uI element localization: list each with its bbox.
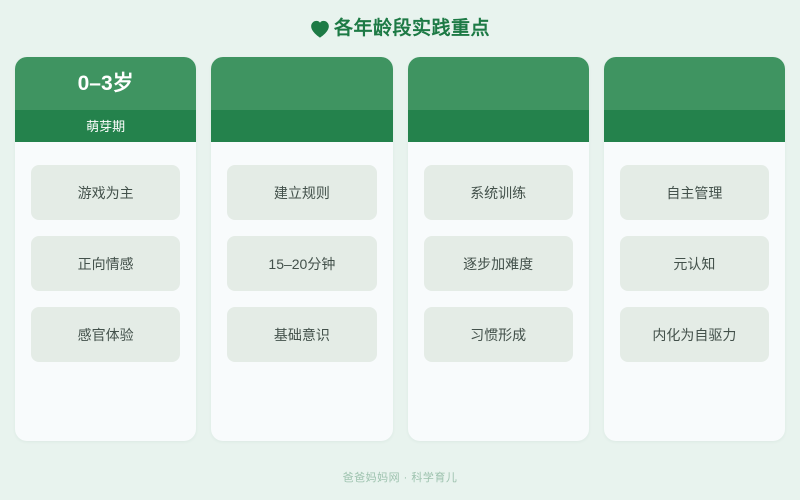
card-subtitle-3 bbox=[408, 110, 589, 142]
card-body-3: 系统训练 逐步加难度 习惯形成 bbox=[408, 142, 589, 441]
age-card-4[interactable]: 自主管理 元认知 内化为自驱力 bbox=[604, 57, 785, 441]
card-header-3 bbox=[408, 57, 589, 110]
list-item[interactable]: 基础意识 bbox=[227, 307, 376, 362]
list-item[interactable]: 习惯形成 bbox=[424, 307, 573, 362]
card-header-4 bbox=[604, 57, 785, 110]
footer-credit: 爸爸妈妈网 · 科学育儿 bbox=[343, 473, 458, 484]
item-label: 内化为自驱力 bbox=[652, 328, 736, 342]
age-card-0-3[interactable]: 0–3岁 萌芽期 游戏为主 正向情感 感官体验 bbox=[15, 57, 196, 441]
card-stage-label: 萌芽期 bbox=[86, 120, 125, 133]
footer: 爸爸妈妈网 · 科学育儿 bbox=[0, 456, 800, 500]
item-label: 逐步加难度 bbox=[463, 257, 533, 271]
list-item[interactable]: 15–20分钟 bbox=[227, 236, 376, 291]
age-card-3[interactable]: 系统训练 逐步加难度 习惯形成 bbox=[408, 57, 589, 441]
item-label: 系统训练 bbox=[470, 186, 526, 200]
item-label: 正向情感 bbox=[78, 257, 134, 271]
card-header-0-3: 0–3岁 bbox=[15, 57, 196, 110]
item-label: 建立规则 bbox=[274, 186, 330, 200]
item-label: 自主管理 bbox=[666, 186, 722, 200]
list-item[interactable]: 建立规则 bbox=[227, 165, 376, 220]
card-age-label: 0–3岁 bbox=[78, 73, 134, 94]
item-label: 15–20分钟 bbox=[268, 257, 335, 271]
list-item[interactable]: 内化为自驱力 bbox=[620, 307, 769, 362]
list-item[interactable]: 逐步加难度 bbox=[424, 236, 573, 291]
heart-icon bbox=[310, 20, 330, 38]
card-subtitle-2 bbox=[211, 110, 392, 142]
item-label: 元认知 bbox=[673, 257, 715, 271]
list-item[interactable]: 元认知 bbox=[620, 236, 769, 291]
item-label: 基础意识 bbox=[274, 328, 330, 342]
card-body-0-3: 游戏为主 正向情感 感官体验 bbox=[15, 142, 196, 441]
card-subtitle-4 bbox=[604, 110, 785, 142]
page-title-bar: 各年龄段实践重点 bbox=[0, 0, 800, 57]
card-body-4: 自主管理 元认知 内化为自驱力 bbox=[604, 142, 785, 441]
item-label: 习惯形成 bbox=[470, 328, 526, 342]
card-body-2: 建立规则 15–20分钟 基础意识 bbox=[211, 142, 392, 441]
list-item[interactable]: 正向情感 bbox=[31, 236, 180, 291]
list-item[interactable]: 感官体验 bbox=[31, 307, 180, 362]
card-subtitle-0-3: 萌芽期 bbox=[15, 110, 196, 142]
age-card-2[interactable]: 建立规则 15–20分钟 基础意识 bbox=[211, 57, 392, 441]
list-item[interactable]: 自主管理 bbox=[620, 165, 769, 220]
item-label: 感官体验 bbox=[78, 328, 134, 342]
card-header-2 bbox=[211, 57, 392, 110]
page-title: 各年龄段实践重点 bbox=[334, 19, 490, 38]
title-wrap: 各年龄段实践重点 bbox=[310, 19, 490, 38]
list-item[interactable]: 系统训练 bbox=[424, 165, 573, 220]
age-stage-cards: 0–3岁 萌芽期 游戏为主 正向情感 感官体验 建立规则 bbox=[15, 57, 785, 441]
list-item[interactable]: 游戏为主 bbox=[31, 165, 180, 220]
item-label: 游戏为主 bbox=[78, 186, 134, 200]
